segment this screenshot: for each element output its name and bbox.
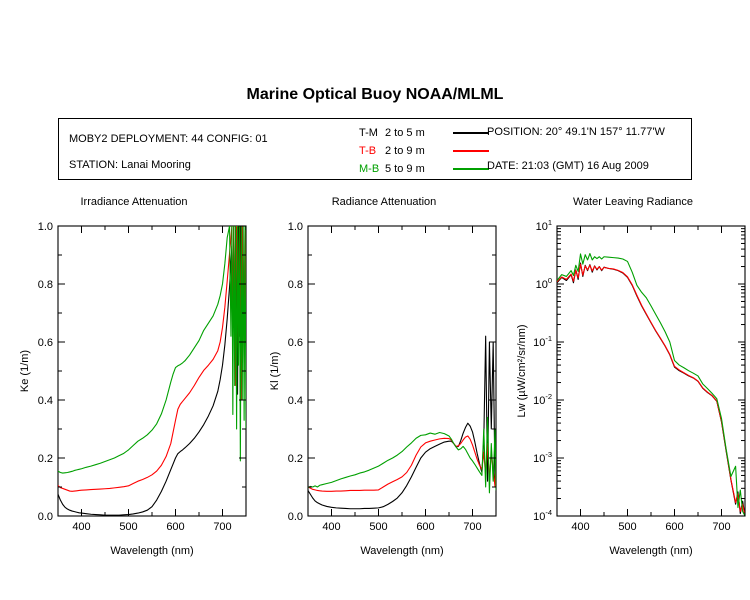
y-tick-label: 0.8 [288, 279, 303, 291]
y-tick-label: 1.0 [288, 221, 303, 233]
axis-ticks: 4005006007000.00.20.40.60.81.0 [38, 221, 246, 533]
legend-series-code: T-B [359, 145, 385, 157]
legend-color-swatch [453, 168, 489, 170]
chart-svg: 4005006007000.00.20.40.60.81.0Wavelength… [14, 196, 254, 576]
series-group [557, 254, 745, 516]
y-tick-label: 10-1 [533, 334, 552, 349]
legend-row: T-B2 to 9 m [359, 142, 489, 160]
x-tick-label: 600 [665, 521, 683, 533]
y-tick-label: 0.4 [288, 395, 303, 407]
x-tick-label: 400 [571, 521, 589, 533]
data-series-line [58, 226, 246, 491]
legend-series-range: 2 to 9 m [385, 145, 451, 157]
y-axis-title: Ke (1/m) [19, 350, 31, 392]
x-tick-label: 700 [463, 521, 481, 533]
plot-frame [58, 226, 246, 516]
deployment-text: MOBY2 DEPLOYMENT: 44 CONFIG: 01 [69, 126, 268, 152]
data-series-line [557, 254, 745, 516]
x-tick-label: 600 [166, 521, 184, 533]
x-tick-label: 500 [618, 521, 636, 533]
y-tick-label: 10-2 [533, 392, 552, 407]
chart-svg: 40050060070010-410-310-210-1100101Wavele… [513, 196, 750, 576]
y-tick-label: 101 [536, 218, 552, 233]
x-tick-label: 500 [369, 521, 387, 533]
figure-root: Marine Optical Buoy NOAA/MLML MOBY2 DEPL… [0, 0, 750, 600]
legend-color-swatch [453, 132, 489, 134]
legend-series-code: T-M [359, 127, 385, 139]
y-tick-label: 100 [536, 276, 552, 291]
page-title: Marine Optical Buoy NOAA/MLML [0, 86, 750, 104]
y-tick-label: 10-3 [533, 450, 552, 465]
metadata-header-box: MOBY2 DEPLOYMENT: 44 CONFIG: 01 STATION:… [58, 118, 692, 180]
y-axis-title: Lw (µW/cm²/sr/nm) [516, 324, 528, 417]
x-tick-label: 600 [416, 521, 434, 533]
y-tick-label: 0.6 [38, 337, 53, 349]
data-series-line [308, 417, 496, 492]
legend-row: T-M2 to 5 m [359, 124, 489, 142]
chart-panel-water-leaving-radiance: Water Leaving Radiance40050060070010-410… [513, 196, 750, 576]
x-tick-label: 400 [72, 521, 90, 533]
position-text: POSITION: 20° 49.1'N 157° 11.77'W [487, 126, 665, 138]
chart-panel-radiance-attenuation: Radiance Attenuation4005006007000.00.20.… [264, 196, 504, 576]
y-axis-title: Kl (1/m) [269, 352, 281, 391]
data-series-line [557, 263, 745, 516]
chart-title: Radiance Attenuation [264, 196, 504, 208]
chart-svg: 4005006007000.00.20.40.60.81.0Wavelength… [264, 196, 504, 576]
plot-frame [308, 226, 496, 516]
series-group [308, 336, 496, 509]
y-tick-label: 10-4 [533, 508, 552, 523]
y-tick-label: 0.4 [38, 395, 53, 407]
chart-panel-irradiance-attenuation: Irradiance Attenuation4005006007000.00.2… [14, 196, 254, 576]
legend-series-range: 2 to 5 m [385, 127, 451, 139]
legend-series-range: 5 to 9 m [385, 163, 451, 175]
y-tick-label: 0.8 [38, 279, 53, 291]
plot-frame [557, 226, 745, 516]
data-series-line [557, 264, 745, 516]
x-axis-title: Wavelength (nm) [609, 545, 692, 557]
y-tick-label: 0.2 [38, 453, 53, 465]
legend-color-swatch [453, 150, 489, 152]
x-tick-label: 400 [322, 521, 340, 533]
y-tick-label: 0.0 [38, 511, 53, 523]
chart-title: Irradiance Attenuation [14, 196, 254, 208]
y-tick-label: 0.2 [288, 453, 303, 465]
date-text: DATE: 21:03 (GMT) 16 Aug 2009 [487, 160, 649, 172]
x-tick-label: 500 [119, 521, 137, 533]
axis-ticks: 40050060070010-410-310-210-1100101 [533, 218, 745, 533]
x-axis-title: Wavelength (nm) [110, 545, 193, 557]
y-tick-label: 0.0 [288, 511, 303, 523]
y-tick-label: 1.0 [38, 221, 53, 233]
data-series-line [308, 436, 496, 491]
data-series-line [58, 226, 246, 515]
station-text: STATION: Lanai Mooring [69, 152, 268, 178]
series-legend: T-M2 to 5 mT-B2 to 9 mM-B5 to 9 m [359, 124, 489, 178]
y-tick-label: 0.6 [288, 337, 303, 349]
chart-title: Water Leaving Radiance [513, 196, 750, 208]
legend-series-code: M-B [359, 163, 385, 175]
series-group [58, 226, 246, 515]
legend-row: M-B5 to 9 m [359, 160, 489, 178]
data-series-line [308, 336, 496, 509]
x-tick-label: 700 [712, 521, 730, 533]
x-tick-label: 700 [213, 521, 231, 533]
x-axis-title: Wavelength (nm) [360, 545, 443, 557]
header-left-block: MOBY2 DEPLOYMENT: 44 CONFIG: 01 STATION:… [69, 126, 268, 178]
